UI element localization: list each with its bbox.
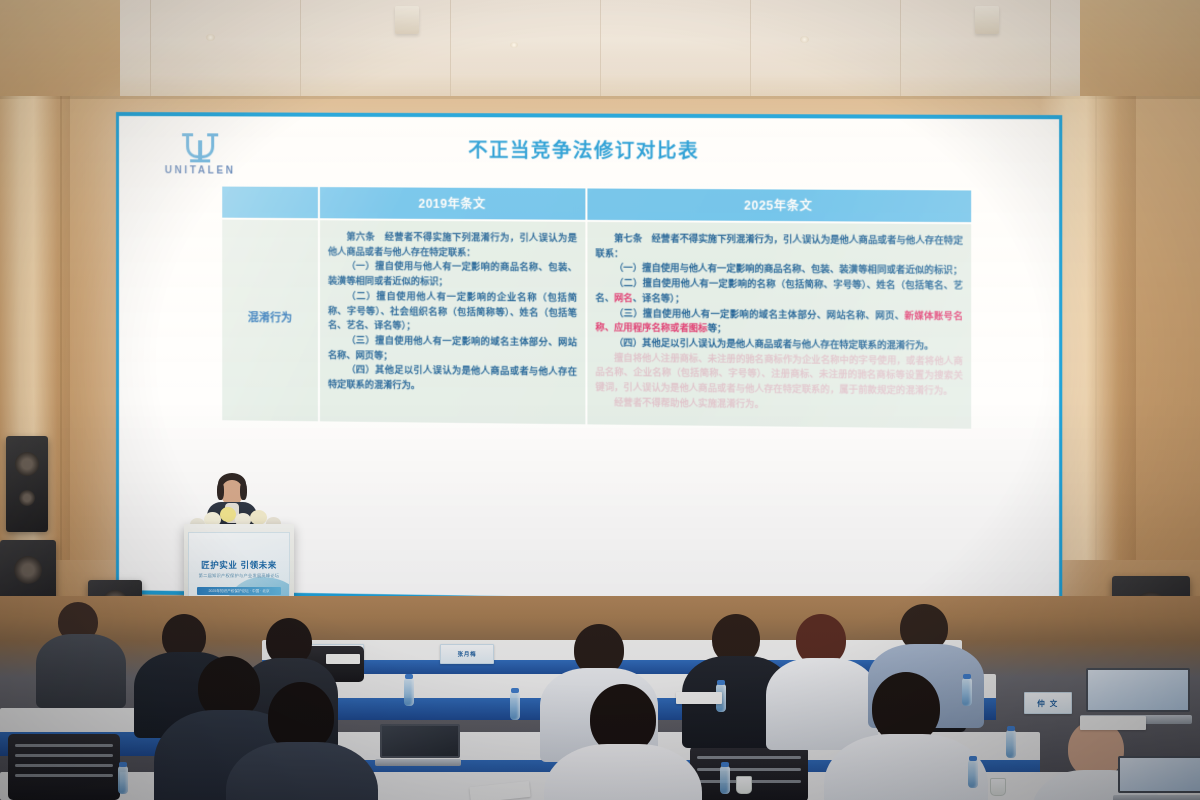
clause-2025-3-b: 等； (708, 323, 727, 333)
ceiling-light-box (395, 6, 419, 34)
clause-2019-0: 第六条 经营者不得实施下列混淆行为，引人误认为是他人商品或者与他人存在特定联系： (328, 229, 577, 260)
clause-2025-3: （三）擅自使用他人有一定影响的域名主体部分、网站名称、网页、新媒体账号名称、应用… (595, 306, 962, 339)
cell-2025-text: 第七条 经营者不得实施下列混淆行为，引人误认为是他人商品或者与他人存在特定联系：… (587, 222, 971, 428)
ceiling-edge-right (1080, 0, 1200, 104)
document-paper (326, 654, 360, 664)
clause-2025-0: 第七条 经营者不得实施下列混淆行为，引人误认为是他人商品或者与他人存在特定联系： (595, 231, 962, 263)
ceiling-downlight (800, 36, 809, 43)
water-bottle (1006, 730, 1016, 758)
ceiling-downlight (510, 42, 518, 48)
clause-2019-3: （三）擅自使用他人有一定影响的域名主体部分、网站名称、网页等； (328, 333, 577, 365)
ceiling (0, 0, 1200, 100)
audience-area: 林宝国 张月梅 仲 文 卢伟彬 (0, 596, 1200, 800)
presenter-hair-left (217, 482, 224, 500)
podium-banner-bar: 2025年知识产权保护论坛 · 中国 · 北京 (197, 587, 281, 595)
audio-speaker-left (6, 436, 48, 532)
podium-banner-title: 匠护实业 引领未来 (189, 559, 289, 571)
table-row: 混淆行为 第六条 经营者不得实施下列混淆行为，引人误认为是他人商品或者与他人存在… (222, 220, 971, 429)
presenter-hair-right (240, 482, 247, 500)
water-bottle (962, 678, 972, 706)
water-bottle (404, 678, 414, 706)
cell-2019-text: 第六条 经营者不得实施下列混淆行为，引人误认为是他人商品或者与他人存在特定联系：… (320, 220, 585, 424)
clause-2025-faded-1: 经营者不得帮助他人实施混淆行为。 (595, 395, 962, 414)
water-bottle (720, 766, 730, 794)
paper-cup (990, 778, 1006, 796)
water-bottle (118, 766, 128, 794)
clause-2019-4: （四）其他足以引人误认为是他人商品或者与他人存在特定联系的混淆行为。 (328, 363, 577, 395)
clause-2025-faded-0: 擅自将他人注册商标、未注册的驰名商标作为企业名称中的字号使用，或者将他人商品名称… (595, 350, 962, 399)
slide-title: 不正当竞争法修订对比表 (119, 134, 1059, 165)
row-label-confusion: 混淆行为 (222, 220, 318, 421)
chair (8, 734, 120, 800)
clause-2025-2-highlight: 网名 (614, 293, 633, 303)
conference-hall-scene: UNITALEN 不正当竞争法修订对比表 2019年条文 2025年条文 混淆行… (0, 0, 1200, 800)
name-placard: 仲 文 (1024, 692, 1072, 714)
clause-2019-2: （二）擅自使用他人有一定影响的企业名称（包括简称、字号等）、社会组织名称（包括简… (328, 289, 577, 336)
ceiling-downlight (206, 34, 215, 41)
water-bottle (968, 760, 978, 788)
laptop (380, 724, 456, 766)
clause-2025-2: （二）擅自使用他人有一定影响的名称（包括简称、字号等）、姓名（包括笔名、艺名、网… (595, 276, 962, 309)
table-header-row: 2019年条文 2025年条文 (222, 187, 971, 223)
header-blank (222, 187, 318, 219)
clause-2025-2-b: 、译名等）； (633, 293, 684, 304)
clause-2025-3-a: （三）擅自使用他人有一定影响的域名主体部分、网站名称、网页、 (614, 308, 904, 321)
podium-banner-bar-text: 2025年知识产权保护论坛 · 中国 · 北京 (197, 587, 281, 595)
header-2025: 2025年条文 (587, 188, 971, 222)
clause-2019-1: （一）擅自使用与他人有一定影响的商品名称、包装、装潢等相同或者近似的标识； (328, 259, 577, 291)
ceiling-light-box (975, 6, 999, 34)
paper-cup (736, 776, 752, 794)
laptop (1118, 756, 1200, 800)
document-paper (1080, 716, 1146, 730)
podium-banner-subtitle: 第二届知识产权保护与产业发展高峰论坛 (189, 573, 289, 579)
unitalen-wordmark: UNITALEN (155, 165, 245, 176)
ceiling-edge-left (0, 0, 120, 104)
comparison-table: 2019年条文 2025年条文 混淆行为 第六条 经营者不得实施下列混淆行为，引… (220, 185, 973, 431)
document-paper (676, 692, 722, 704)
water-bottle (510, 692, 520, 720)
name-placard: 张月梅 (440, 644, 494, 664)
header-2019: 2019年条文 (320, 187, 585, 220)
